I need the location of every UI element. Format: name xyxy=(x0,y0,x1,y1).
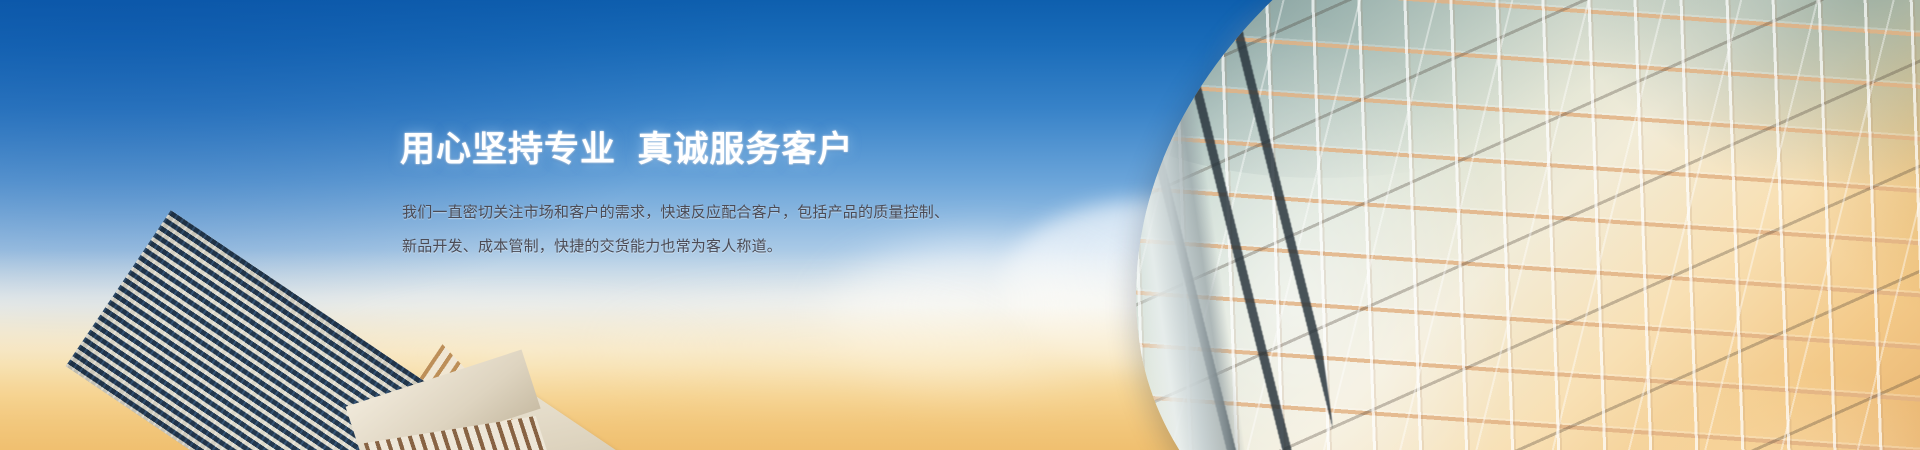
banner-body-line: 新品开发、成本管制，快捷的交货能力也常为客人称道。 xyxy=(402,230,1160,264)
banner-body-line: 我们一直密切关注市场和客户的需求，快速反应配合客户，包括产品的质量控制、 xyxy=(402,196,1160,230)
banner-copy: 用心坚持专业 真诚服务客户 我们一直密切关注市场和客户的需求，快速反应配合客户，… xyxy=(400,128,1160,264)
banner-headline: 用心坚持专业 真诚服务客户 xyxy=(400,128,1160,172)
hero-banner: 用心坚持专业 真诚服务客户 我们一直密切关注市场和客户的需求，快速反应配合客户，… xyxy=(0,0,1920,450)
banner-body: 我们一直密切关注市场和客户的需求，快速反应配合客户，包括产品的质量控制、 新品开… xyxy=(402,196,1160,264)
